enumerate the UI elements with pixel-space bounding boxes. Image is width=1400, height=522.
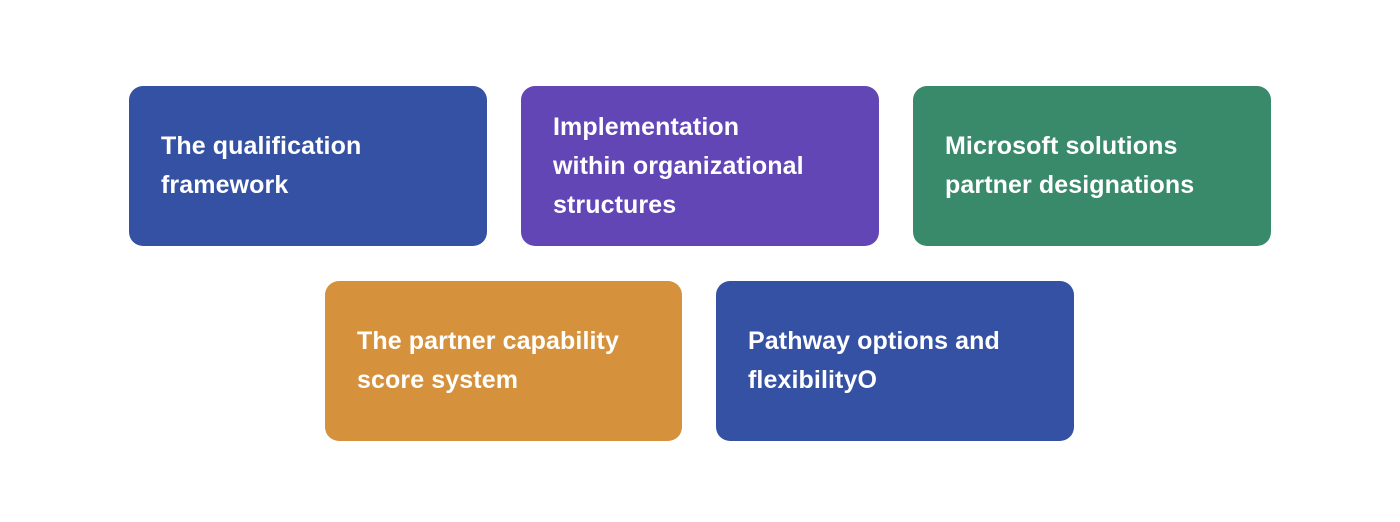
card-partner-capability-score-system[interactable]: The partner capability score system — [325, 281, 682, 441]
card-label: The qualification framework — [161, 127, 361, 205]
card-pathway-options-flexibility[interactable]: Pathway options and flexibilityO — [716, 281, 1074, 441]
card-qualification-framework[interactable]: The qualification framework — [129, 86, 487, 246]
card-implementation-organizational-structures[interactable]: Implementation within organizational str… — [521, 86, 879, 246]
card-label: Implementation within organizational str… — [553, 108, 804, 225]
diagram-canvas: The qualification framework Implementati… — [0, 0, 1400, 522]
card-microsoft-solutions-partner-designations[interactable]: Microsoft solutions partner designations — [913, 86, 1271, 246]
card-label: The partner capability score system — [357, 322, 619, 400]
card-label: Microsoft solutions partner designations — [945, 127, 1194, 205]
card-label: Pathway options and flexibilityO — [748, 322, 1000, 400]
